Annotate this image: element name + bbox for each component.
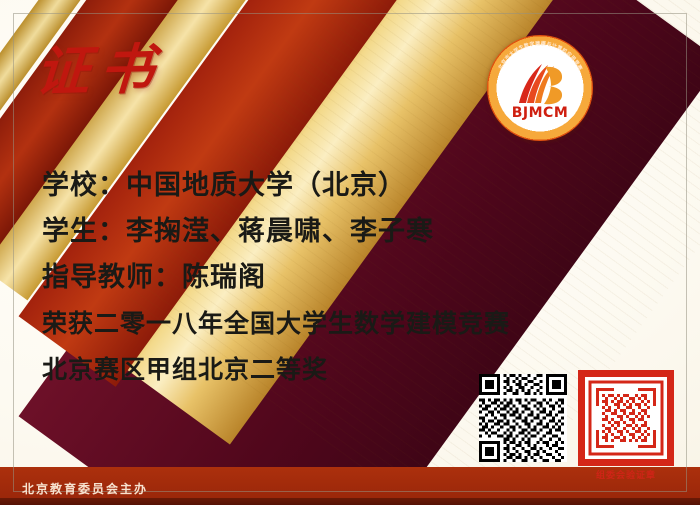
field-advisor: 指导教师：陈瑞阁 [42,255,662,301]
bjmcm-logo: 北京市大学生数学建模与计算机应用竞赛 BJMCM [487,35,593,141]
seal-qr-code[interactable] [578,370,674,466]
logo-acronym: BJMCM [487,105,593,121]
field-award-result: 北京赛区甲组北京二等奖 [42,347,662,393]
field-award-competition: 荣获二零一八年全国大学生数学建模竞赛 [42,301,662,347]
page-title: 证书 [33,24,166,106]
certificate: 证书 北京市大学生数学建模与计算机应用竞赛 BJMCM 学校：中国地质大学（北京… [0,0,700,505]
certificate-body: 学校：中国地质大学（北京） 学生：李掬滢、蒋晨啸、李子寒 指导教师：陈瑞阁 荣获… [42,163,662,393]
seal-caption: 组委会验证章 [570,468,682,481]
stylized-b-flame-icon [509,61,571,107]
verification-qr-code[interactable] [479,374,567,462]
footer-band-edge [0,498,700,505]
footer-organizer: 北京教育委员会主办 [22,480,148,497]
field-students: 学生：李掬滢、蒋晨啸、李子寒 [42,209,662,255]
field-school: 学校：中国地质大学（北京） [42,163,662,209]
